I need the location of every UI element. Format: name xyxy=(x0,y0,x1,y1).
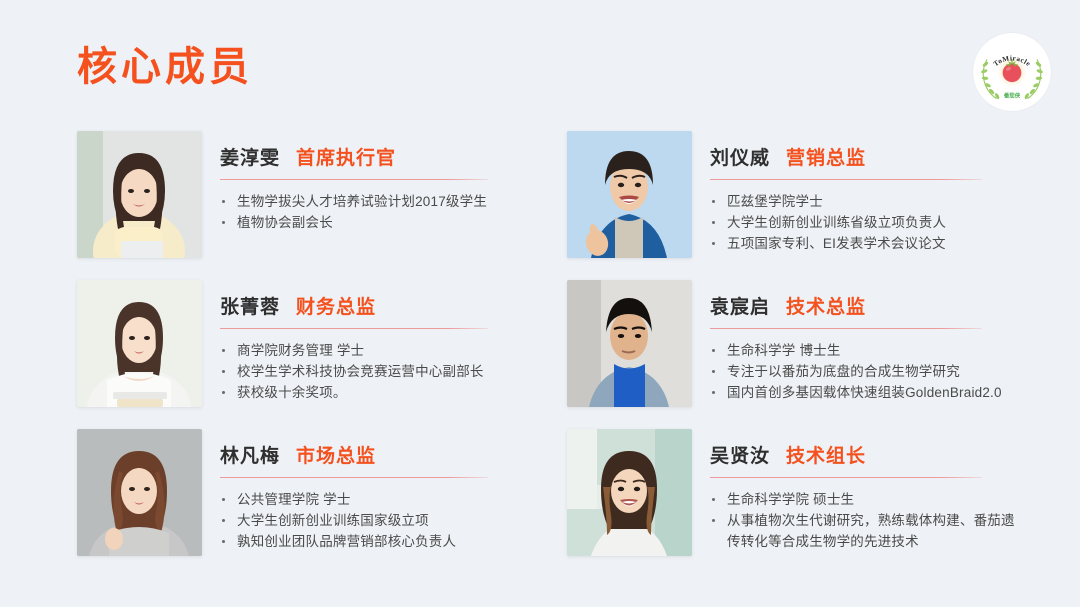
member-card: 张菁蓉 财务总监 商学院财务管理 学士 校学生学术科技协会竞赛运营中心副部长 获… xyxy=(77,280,507,407)
logo-artwork: ToMiracle 番茄侠 xyxy=(973,33,1051,111)
list-item: 获校级十余奖项。 xyxy=(220,382,507,403)
member-heading: 张菁蓉 财务总监 xyxy=(220,292,507,319)
member-info: 姜淳雯 首席执行官 生物学拔尖人才培养试验计划2017级学生 植物协会副会长 xyxy=(220,131,507,233)
member-info: 张菁蓉 财务总监 商学院财务管理 学士 校学生学术科技协会竞赛运营中心副部长 获… xyxy=(220,280,507,403)
member-name: 刘仪威 xyxy=(710,143,770,170)
member-bullet-list: 商学院财务管理 学士 校学生学术科技协会竞赛运营中心副部长 获校级十余奖项。 xyxy=(220,340,507,403)
member-role: 首席执行官 xyxy=(296,143,396,170)
list-item: 五项国家专利、EI发表学术会议论文 xyxy=(710,233,1027,254)
member-name: 袁宸启 xyxy=(710,292,770,319)
member-card: 袁宸启 技术总监 生命科学学 博士生 专注于以番茄为底盘的合成生物学研究 国内首… xyxy=(567,280,1027,407)
divider-line xyxy=(710,477,982,478)
member-role: 市场总监 xyxy=(296,441,376,468)
member-bullet-list: 公共管理学院 学士 大学生创新创业训练国家级立项 孰知创业团队品牌营销部核心负责… xyxy=(220,489,507,552)
list-item: 专注于以番茄为底盘的合成生物学研究 xyxy=(710,361,1027,382)
member-heading: 刘仪威 营销总监 xyxy=(710,143,1027,170)
member-heading: 姜淳雯 首席执行官 xyxy=(220,143,507,170)
member-bullet-list: 生命科学学 博士生 专注于以番茄为底盘的合成生物学研究 国内首创多基因载体快速组… xyxy=(710,340,1027,403)
member-role: 技术总监 xyxy=(786,292,866,319)
divider-line xyxy=(220,179,488,180)
member-role: 营销总监 xyxy=(786,143,866,170)
list-item: 商学院财务管理 学士 xyxy=(220,340,507,361)
tomato-icon xyxy=(1003,63,1022,82)
list-item: 校学生学术科技协会竞赛运营中心副部长 xyxy=(220,361,507,382)
member-role: 财务总监 xyxy=(296,292,376,319)
member-info: 林凡梅 市场总监 公共管理学院 学士 大学生创新创业训练国家级立项 孰知创业团队… xyxy=(220,429,507,552)
list-item: 大学生创新创业训练国家级立项 xyxy=(220,510,507,531)
member-heading: 林凡梅 市场总监 xyxy=(220,441,507,468)
member-bullet-list: 生命科学学院 硕士生 从事植物次生代谢研究，熟练载体构建、番茄遗传转化等合成生物… xyxy=(710,489,1027,552)
slide-root: 核心成员 xyxy=(0,0,1080,607)
divider-line xyxy=(220,477,488,478)
member-heading: 袁宸启 技术总监 xyxy=(710,292,1027,319)
photo-zhang-jingrong xyxy=(77,280,202,407)
member-info: 刘仪威 营销总监 匹兹堡学院学士 大学生创新创业训练省级立项负责人 五项国家专利… xyxy=(710,131,1027,254)
list-item: 公共管理学院 学士 xyxy=(220,489,507,510)
divider-line xyxy=(710,328,982,329)
photo-lin-fanmei xyxy=(77,429,202,556)
member-card: 姜淳雯 首席执行官 生物学拔尖人才培养试验计划2017级学生 植物协会副会长 xyxy=(77,131,507,258)
member-card: 吴贤汝 技术组长 生命科学学院 硕士生 从事植物次生代谢研究，熟练载体构建、番茄… xyxy=(567,429,1027,556)
member-bullet-list: 匹兹堡学院学士 大学生创新创业训练省级立项负责人 五项国家专利、EI发表学术会议… xyxy=(710,191,1027,254)
list-item: 大学生创新创业训练省级立项负责人 xyxy=(710,212,1027,233)
member-bullet-list: 生物学拔尖人才培养试验计划2017级学生 植物协会副会长 xyxy=(220,191,507,233)
member-card: 刘仪威 营销总监 匹兹堡学院学士 大学生创新创业训练省级立项负责人 五项国家专利… xyxy=(567,131,1027,258)
member-name: 姜淳雯 xyxy=(220,143,280,170)
brand-logo: ToMiracle 番茄侠 xyxy=(973,33,1051,111)
list-item: 匹兹堡学院学士 xyxy=(710,191,1027,212)
divider-line xyxy=(710,179,982,180)
divider-line xyxy=(220,328,488,329)
list-item: 植物协会副会长 xyxy=(220,212,507,233)
list-item: 生命科学学 博士生 xyxy=(710,340,1027,361)
photo-wu-xianru xyxy=(567,429,692,556)
member-name: 吴贤汝 xyxy=(710,441,770,468)
member-card: 林凡梅 市场总监 公共管理学院 学士 大学生创新创业训练国家级立项 孰知创业团队… xyxy=(77,429,507,556)
list-item: 孰知创业团队品牌营销部核心负责人 xyxy=(220,531,507,552)
page-title: 核心成员 xyxy=(77,44,253,90)
photo-jiang-chunwen xyxy=(77,131,202,258)
member-name: 林凡梅 xyxy=(220,441,280,468)
member-info: 袁宸启 技术总监 生命科学学 博士生 专注于以番茄为底盘的合成生物学研究 国内首… xyxy=(710,280,1027,403)
list-item: 国内首创多基因载体快速组装GoldenBraid2.0 xyxy=(710,382,1027,403)
member-role: 技术组长 xyxy=(786,441,866,468)
member-name: 张菁蓉 xyxy=(220,292,280,319)
list-item: 从事植物次生代谢研究，熟练载体构建、番茄遗传转化等合成生物学的先进技术 xyxy=(710,510,1027,552)
list-item: 生命科学学院 硕士生 xyxy=(710,489,1027,510)
photo-liu-yiwei xyxy=(567,131,692,258)
list-item: 生物学拔尖人才培养试验计划2017级学生 xyxy=(220,191,507,212)
member-heading: 吴贤汝 技术组长 xyxy=(710,441,1027,468)
photo-yuan-chenqi xyxy=(567,280,692,407)
member-info: 吴贤汝 技术组长 生命科学学院 硕士生 从事植物次生代谢研究，熟练载体构建、番茄… xyxy=(710,429,1027,552)
